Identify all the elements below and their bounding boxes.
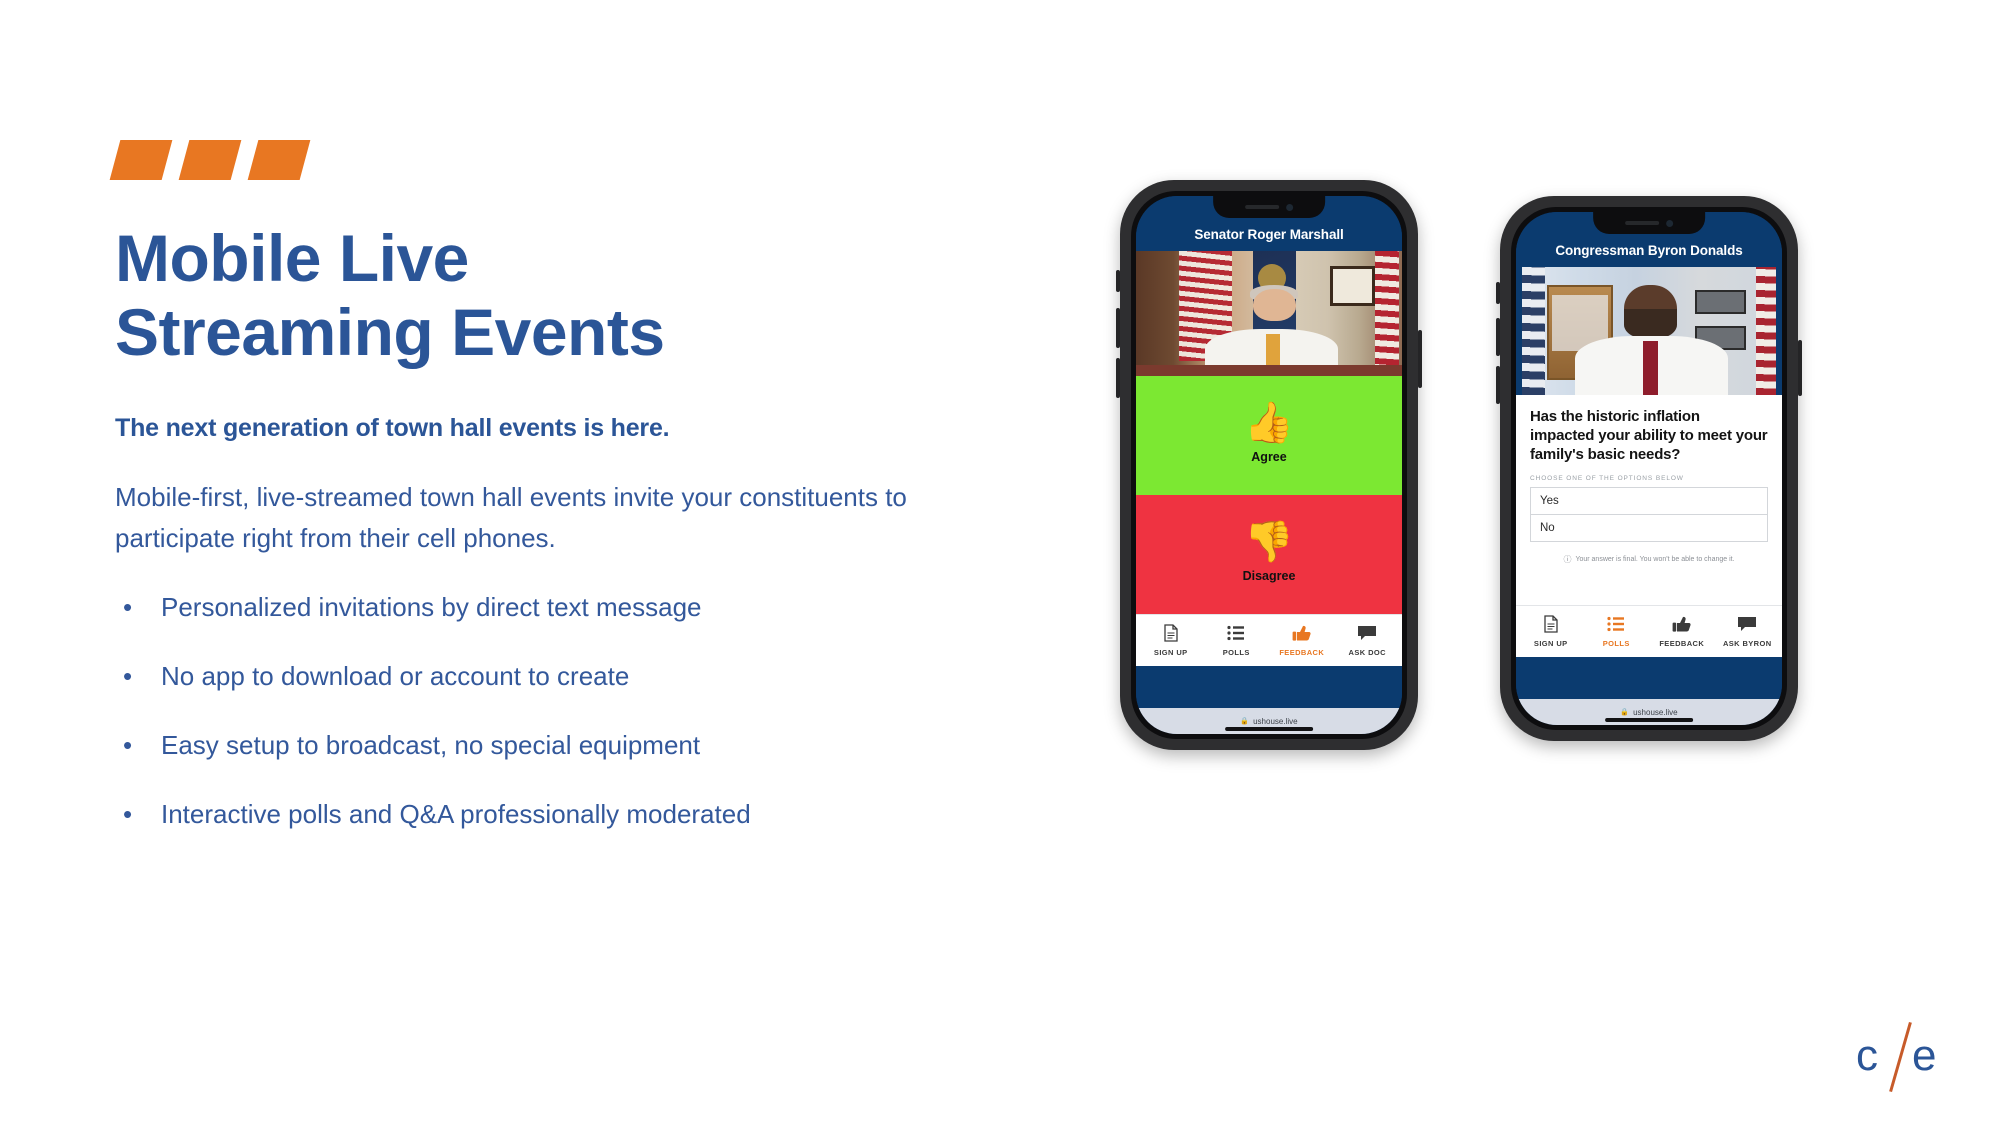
front-camera-icon: [1666, 220, 1673, 227]
feature-bullet-list: • Personalized invitations by direct tex…: [115, 593, 985, 830]
app-bottom-nav: SIGN UP POLLS FEEDBACK: [1136, 614, 1402, 666]
list-item: • No app to download or account to creat…: [115, 662, 985, 692]
slide-root: Mobile Live Streaming Events The next ge…: [0, 0, 2000, 1125]
chat-bubble-icon: [1737, 614, 1757, 634]
earpiece-speaker-icon: [1625, 221, 1659, 225]
poll-option-list: Yes No: [1530, 487, 1768, 542]
nav-label: POLLS: [1223, 648, 1250, 657]
bullet-marker-icon: •: [115, 800, 161, 829]
list-item-label: Personalized invitations by direct text …: [161, 593, 702, 623]
nav-item-polls[interactable]: POLLS: [1584, 614, 1650, 648]
vote-disagree-label: Disagree: [1243, 569, 1296, 583]
phone-screen: Senator Roger Marshall: [1136, 196, 1402, 734]
lock-icon: 🔒: [1240, 717, 1249, 725]
volume-up-button[interactable]: [1496, 318, 1500, 356]
app-footer-band: [1516, 657, 1782, 699]
document-icon: [1163, 623, 1179, 643]
page-title-line-2: Streaming Events: [115, 296, 985, 370]
info-icon: ⓘ: [1563, 554, 1571, 565]
list-item: • Interactive polls and Q&A professional…: [115, 800, 985, 830]
poll-option-no[interactable]: No: [1531, 514, 1767, 541]
phone-bezel: Congressman Byron Donalds: [1511, 207, 1787, 730]
phone-mockup-marshall: Senator Roger Marshall: [1120, 180, 1418, 750]
logo-letter-e: e: [1912, 1031, 1936, 1081]
page-title: Mobile Live Streaming Events: [115, 222, 985, 370]
home-indicator[interactable]: [1605, 718, 1693, 722]
accent-mark-icon: [248, 140, 311, 180]
bullet-marker-icon: •: [115, 593, 161, 622]
url-text: ushouse.live: [1253, 717, 1297, 726]
list-icon: [1607, 614, 1625, 634]
mute-switch-icon: [1116, 270, 1120, 292]
vote-agree-button[interactable]: 👍 Agree: [1136, 376, 1402, 495]
nav-label: ASK BYRON: [1723, 639, 1772, 648]
app-bottom-nav: SIGN UP POLLS FEEDBACK: [1516, 605, 1782, 657]
accent-mark-icon: [179, 140, 242, 180]
power-button[interactable]: [1418, 330, 1422, 388]
poll-note-text: Your answer is final. You won't be able …: [1575, 556, 1734, 563]
flag-right-decor: [1756, 267, 1776, 395]
phone-notch: [1213, 196, 1325, 218]
list-item-label: Easy setup to broadcast, no special equi…: [161, 731, 700, 761]
wall-frame-decor: [1330, 266, 1375, 306]
phone-bezel: Senator Roger Marshall: [1131, 191, 1407, 739]
vote-disagree-button[interactable]: 👎 Disagree: [1136, 495, 1402, 614]
brand-logo: c e: [1850, 1023, 1950, 1093]
phone-screen: Congressman Byron Donalds: [1516, 212, 1782, 725]
mute-switch-icon: [1496, 282, 1500, 304]
accent-mark-icon: [110, 140, 173, 180]
lede-text: The next generation of town hall events …: [115, 414, 985, 443]
logo-slash-icon: [1889, 1022, 1912, 1092]
list-item-label: Interactive polls and Q&A professionally…: [161, 800, 751, 830]
page-title-line-1: Mobile Live: [115, 222, 985, 296]
accent-marks-decoration: [115, 140, 985, 180]
front-camera-icon: [1286, 204, 1293, 211]
poll-card: Has the historic inflation impacted your…: [1516, 395, 1782, 605]
volume-up-button[interactable]: [1116, 308, 1120, 348]
wall-frame-decor: [1695, 290, 1746, 314]
volume-down-button[interactable]: [1496, 366, 1500, 404]
nav-item-ask-byron[interactable]: ASK BYRON: [1715, 614, 1781, 648]
desk-decor: [1136, 365, 1402, 376]
lock-icon: 🔒: [1620, 708, 1629, 716]
logo-letter-c: c: [1856, 1031, 1878, 1081]
nav-item-sign-up[interactable]: SIGN UP: [1138, 623, 1204, 657]
thumbs-up-icon: [1292, 623, 1312, 643]
list-item: • Personalized invitations by direct tex…: [115, 593, 985, 623]
content-column: Mobile Live Streaming Events The next ge…: [115, 140, 985, 869]
us-flag-right-decor: [1375, 251, 1399, 376]
nav-label: FEEDBACK: [1279, 648, 1324, 657]
list-item-label: No app to download or account to create: [161, 662, 629, 692]
chat-bubble-icon: [1357, 623, 1377, 643]
nav-item-feedback[interactable]: FEEDBACK: [1649, 614, 1715, 648]
phone-mockup-donalds: Congressman Byron Donalds: [1500, 196, 1798, 741]
flag-left-decor: [1522, 267, 1545, 395]
poll-question: Has the historic inflation impacted your…: [1530, 408, 1768, 464]
body-paragraph: Mobile-first, live-streamed town hall ev…: [115, 477, 945, 559]
live-video-stream[interactable]: [1136, 251, 1402, 376]
nav-label: ASK DOC: [1349, 648, 1386, 657]
list-item: • Easy setup to broadcast, no special eq…: [115, 731, 985, 761]
poll-option-yes[interactable]: Yes: [1531, 488, 1767, 514]
poll-hint-label: CHOOSE ONE OF THE OPTIONS BELOW: [1530, 475, 1768, 482]
nav-label: SIGN UP: [1534, 639, 1568, 648]
volume-down-button[interactable]: [1116, 358, 1120, 398]
bullet-marker-icon: •: [115, 731, 161, 760]
live-video-stream[interactable]: [1522, 267, 1776, 395]
app-footer-band: [1136, 666, 1402, 708]
nav-item-ask-doc[interactable]: ASK DOC: [1335, 623, 1401, 657]
speaker-tie: [1643, 341, 1658, 395]
thumbs-up-icon: [1672, 614, 1692, 634]
bullet-marker-icon: •: [115, 662, 161, 691]
document-icon: [1543, 614, 1559, 634]
poll-final-answer-note: ⓘ Your answer is final. You won't be abl…: [1530, 554, 1768, 565]
nav-label: FEEDBACK: [1659, 639, 1704, 648]
nav-item-sign-up[interactable]: SIGN UP: [1518, 614, 1584, 648]
nav-label: POLLS: [1603, 639, 1630, 648]
home-indicator[interactable]: [1225, 727, 1313, 731]
vote-agree-label: Agree: [1251, 450, 1286, 464]
nav-label: SIGN UP: [1154, 648, 1188, 657]
phone-notch: [1593, 212, 1705, 234]
nav-item-feedback[interactable]: FEEDBACK: [1269, 623, 1335, 657]
list-icon: [1227, 623, 1245, 643]
nav-item-polls[interactable]: POLLS: [1204, 623, 1270, 657]
earpiece-speaker-icon: [1245, 205, 1279, 209]
url-text: ushouse.live: [1633, 708, 1677, 717]
thumbs-up-icon: 👍: [1244, 403, 1294, 443]
power-button[interactable]: [1798, 340, 1802, 396]
thumbs-down-icon: 👎: [1244, 522, 1294, 562]
speaker-face: [1253, 289, 1296, 322]
